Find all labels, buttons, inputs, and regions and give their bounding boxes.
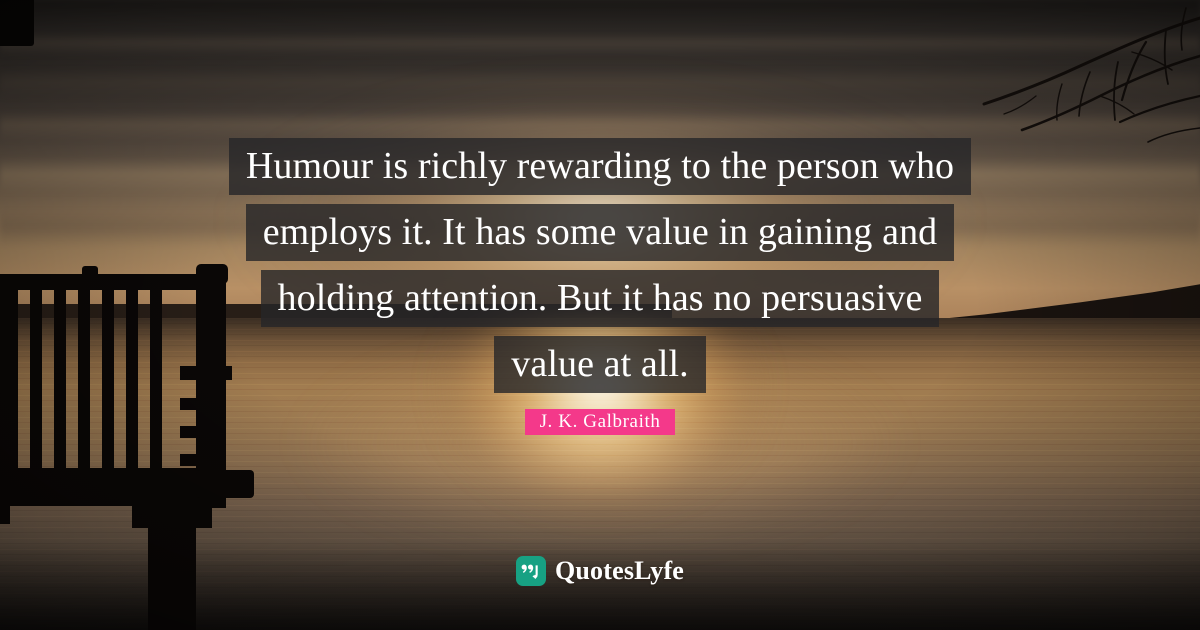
brand-name: QuotesLyfe <box>555 556 684 586</box>
brand-logo[interactable]: QuotesLyfe <box>0 556 1200 586</box>
author-name-badge: J. K. Galbraith <box>525 409 676 435</box>
quote-line-1: Humour is richly rewarding to the person… <box>229 138 971 195</box>
quote-text-block: Humour is richly rewarding to the person… <box>0 138 1200 402</box>
quote-card: Humour is richly rewarding to the person… <box>0 0 1200 630</box>
author-attribution: J. K. Galbraith <box>0 409 1200 435</box>
quote-line-4: value at all. <box>494 336 706 393</box>
quote-line-3: holding attention. But it has no persuas… <box>261 270 940 327</box>
quote-mark-icon <box>516 556 546 586</box>
quote-line-2: employs it. It has some value in gaining… <box>246 204 955 261</box>
